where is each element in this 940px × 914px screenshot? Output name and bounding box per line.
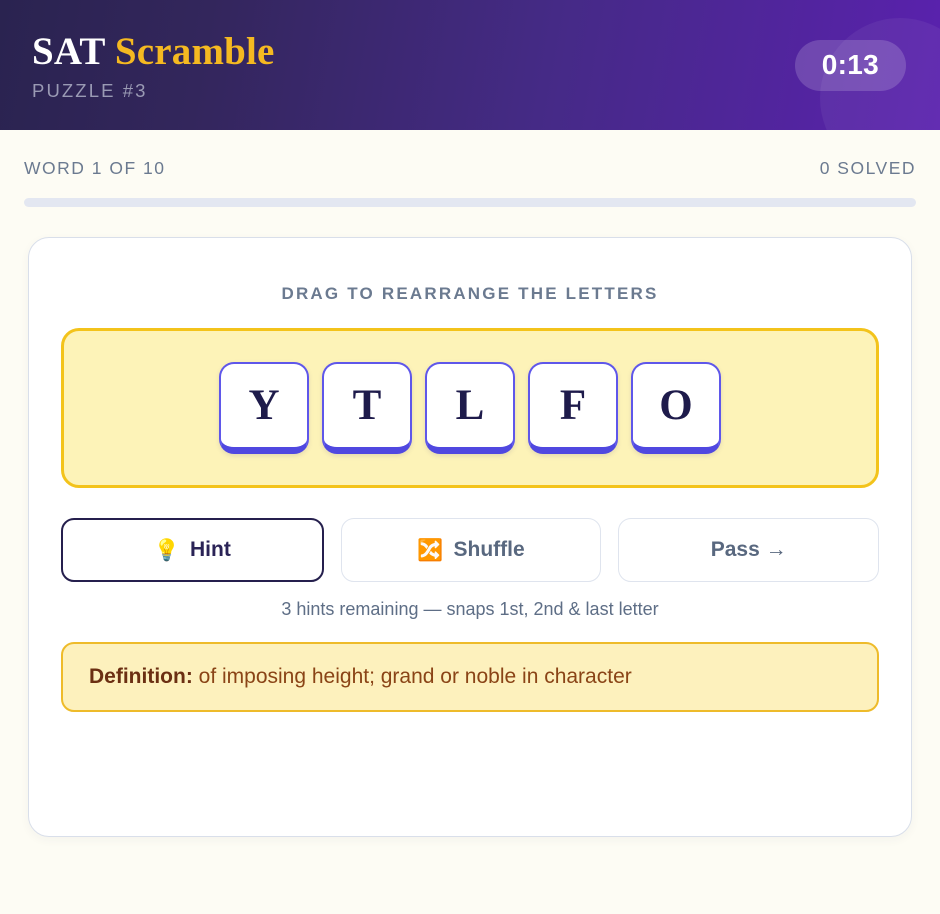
letter-tile[interactable]: Y bbox=[219, 362, 309, 454]
puzzle-subtitle: PUZZLE #3 bbox=[32, 80, 275, 102]
shuffle-icon: 🔀 bbox=[417, 540, 443, 561]
letter-tile[interactable]: L bbox=[425, 362, 515, 454]
puzzle-card: DRAG TO REARRANGE THE LETTERS Y T L F O … bbox=[28, 237, 912, 837]
brand-primary: SAT bbox=[32, 30, 105, 73]
progress-row: WORD 1 OF 10 0 SOLVED bbox=[24, 158, 916, 179]
hint-button[interactable]: 💡 Hint bbox=[61, 518, 324, 582]
progress-strip: WORD 1 OF 10 0 SOLVED bbox=[0, 130, 940, 207]
solved-counter: 0 SOLVED bbox=[820, 158, 916, 179]
letter-tile[interactable]: F bbox=[528, 362, 618, 454]
brand-accent: Scramble bbox=[115, 30, 275, 73]
hints-remaining-note: 3 hints remaining — snaps 1st, 2nd & las… bbox=[61, 599, 879, 620]
drag-instruction: DRAG TO REARRANGE THE LETTERS bbox=[61, 284, 879, 304]
pass-button[interactable]: Pass → bbox=[618, 518, 879, 582]
lightbulb-icon: 💡 bbox=[154, 540, 180, 561]
page-title: SAT Scramble bbox=[32, 32, 275, 73]
letter-tile[interactable]: O bbox=[631, 362, 721, 454]
letter-rack[interactable]: Y T L F O bbox=[61, 328, 879, 488]
definition-box: Definition: of imposing height; grand or… bbox=[61, 642, 879, 712]
letter-tile[interactable]: T bbox=[322, 362, 412, 454]
pass-button-label: Pass → bbox=[711, 538, 787, 562]
definition-label: Definition: bbox=[89, 665, 193, 688]
timer-badge: 0:13 bbox=[795, 40, 906, 91]
shuffle-button[interactable]: 🔀 Shuffle bbox=[341, 518, 602, 582]
action-button-row: 💡 Hint 🔀 Shuffle Pass → bbox=[61, 518, 879, 582]
word-counter: WORD 1 OF 10 bbox=[24, 158, 166, 179]
hint-button-label: Hint bbox=[190, 538, 231, 562]
progress-bar bbox=[24, 198, 916, 207]
definition-text: of imposing height; grand or noble in ch… bbox=[193, 665, 632, 688]
app-header: SAT Scramble PUZZLE #3 0:13 bbox=[0, 0, 940, 130]
brand-block: SAT Scramble PUZZLE #3 bbox=[32, 28, 275, 102]
shuffle-button-label: Shuffle bbox=[454, 538, 525, 562]
